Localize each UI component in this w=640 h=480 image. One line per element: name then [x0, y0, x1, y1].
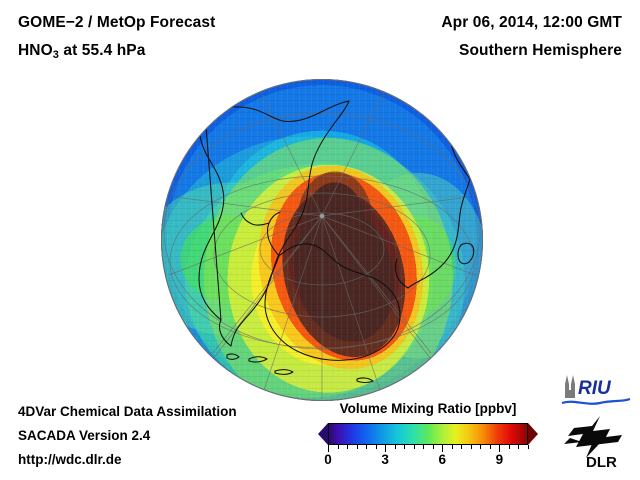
hemisphere-label: Southern Hemisphere [459, 42, 622, 60]
colorbar-minor-tick [395, 445, 396, 449]
riu-wordmark: RIU [578, 378, 612, 399]
assimilation-label: 4DVar Chemical Data Assimilation [18, 404, 237, 419]
species-name: HNO [18, 42, 53, 59]
colorbar-major-tick [328, 445, 329, 452]
colorbar [318, 423, 538, 445]
colorbar-minor-tick [366, 445, 367, 449]
dlr-bird-icon [564, 416, 622, 458]
globe-outline [161, 79, 483, 401]
colorbar-gradient [328, 423, 528, 445]
species-level: at 55.4 hPa [59, 42, 146, 59]
riu-wave-icon [562, 399, 630, 404]
colorbar-minor-tick [471, 445, 472, 449]
colorbar-minor-tick [357, 445, 358, 449]
colorbar-major-tick [385, 445, 386, 452]
species-title: HNO3 at 55.4 hPa [18, 42, 145, 61]
colorbar-low-arrow [318, 423, 328, 445]
colorbar-minor-tick [338, 445, 339, 449]
colorbar-tick-label: 3 [381, 452, 389, 467]
colorbar-minor-tick [452, 445, 453, 449]
colorbar-tick-labels: 0369 [318, 452, 538, 470]
dlr-wordmark: DLR [586, 454, 617, 471]
website-url: http://wdc.dlr.de [18, 452, 122, 467]
colorbar-minor-tick [423, 445, 424, 449]
colorbar-major-tick [442, 445, 443, 452]
colorbar-minor-tick [404, 445, 405, 449]
colorbar-minor-tick [528, 445, 529, 449]
riu-logo: RIU [558, 372, 634, 408]
colorbar-minor-tick [518, 445, 519, 449]
cologne-cathedral-icon [565, 375, 575, 398]
colorbar-minor-tick [490, 445, 491, 449]
version-label: SACADA Version 2.4 [18, 428, 150, 443]
colorbar-minor-tick [376, 445, 377, 449]
colorbar-minor-tick [414, 445, 415, 449]
dlr-logo: DLR [562, 414, 634, 474]
colorbar-minor-tick [509, 445, 510, 449]
colorbar-tick-label: 9 [496, 452, 504, 467]
colorbar-tick-label: 0 [324, 452, 332, 467]
colorbar-tick-label: 6 [439, 452, 447, 467]
forecast-datetime: Apr 06, 2014, 12:00 GMT [441, 14, 622, 32]
colorbar-minor-tick [461, 445, 462, 449]
colorbar-minor-tick [347, 445, 348, 449]
globe-map [161, 79, 483, 401]
colorbar-minor-tick [433, 445, 434, 449]
colorbar-high-arrow [528, 423, 538, 445]
colorbar-minor-tick [480, 445, 481, 449]
colorbar-major-tick [499, 445, 500, 452]
colorbar-title: Volume Mixing Ratio [ppbv] [318, 401, 538, 416]
forecast-title: GOME−2 / MetOp Forecast [18, 14, 215, 32]
